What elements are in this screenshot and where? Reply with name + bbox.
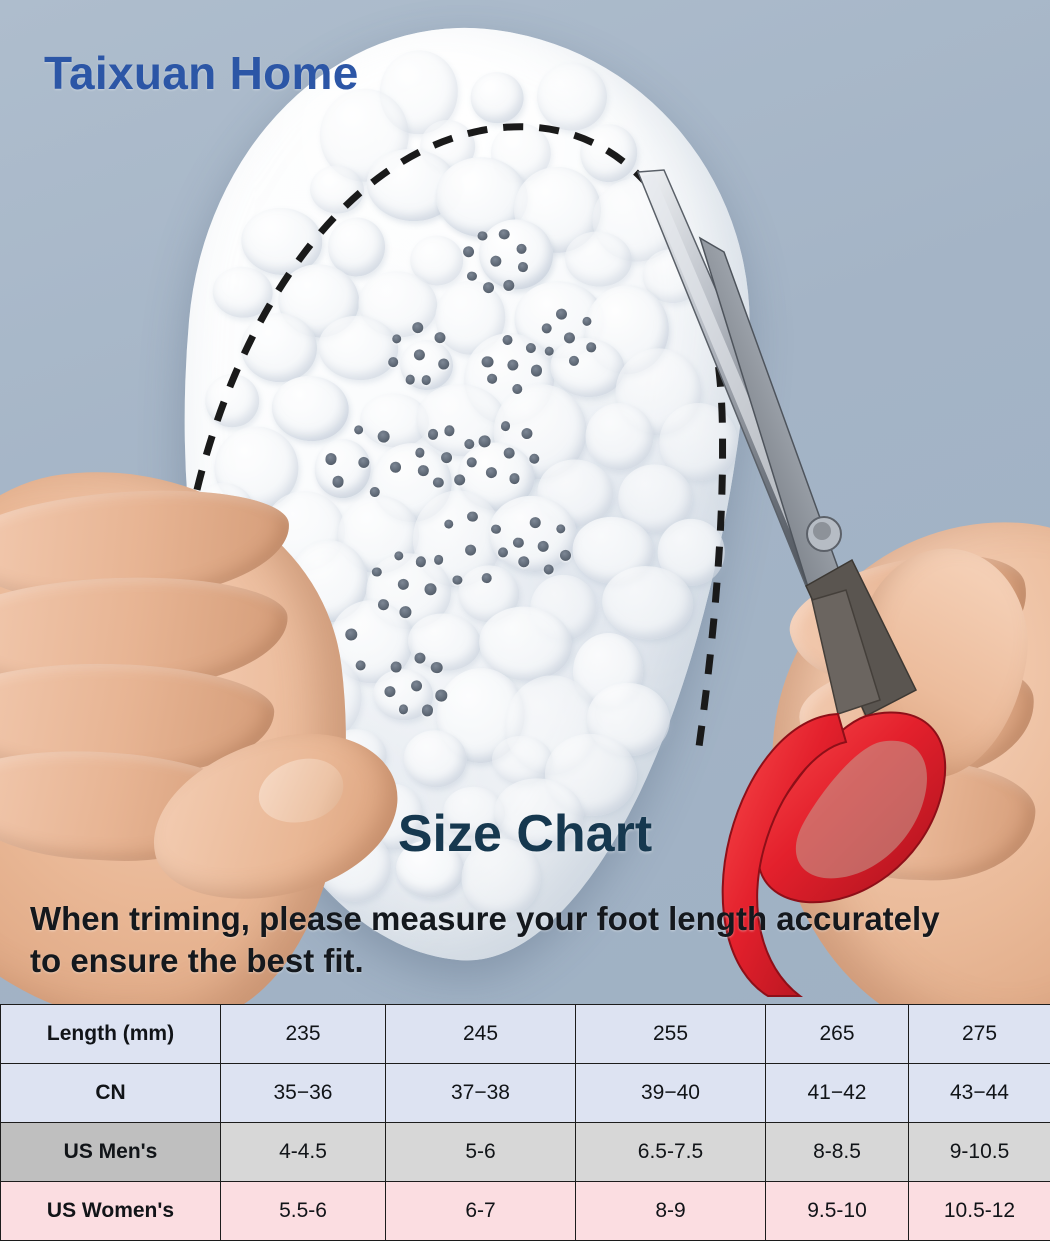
cell-us-mens-5: 9-10.5 xyxy=(909,1123,1050,1182)
row-header-cn: CN xyxy=(1,1064,221,1123)
row-header-us-womens: US Women's xyxy=(1,1182,221,1241)
table-row: US Men's 4-4.5 5-6 6.5-7.5 8-8.5 9-10.5 xyxy=(1,1123,1050,1182)
brand-logo-text: Taixuan Home xyxy=(44,46,359,100)
cell-length-245: 245 xyxy=(386,1005,576,1064)
table-row: CN 35−36 37−38 39−40 41−42 43−44 xyxy=(1,1064,1050,1123)
cell-us-womens-1: 5.5-6 xyxy=(221,1182,386,1241)
product-size-chart-image: Taixuan Home Size Chart When triming, pl… xyxy=(0,0,1050,1241)
cell-length-235: 235 xyxy=(221,1005,386,1064)
cell-us-womens-4: 9.5-10 xyxy=(766,1182,909,1241)
product-photo: Taixuan Home Size Chart When triming, pl… xyxy=(0,0,1050,1005)
instruction-line-1: When triming, please measure your foot l… xyxy=(30,898,1030,940)
cell-us-womens-3: 8-9 xyxy=(576,1182,766,1241)
cell-us-womens-5: 10.5-12 xyxy=(909,1182,1050,1241)
instruction-line-2: to ensure the best fit. xyxy=(30,940,1030,982)
size-chart-table: Length (mm) 235 245 255 265 275 CN 35−36… xyxy=(0,1004,1050,1241)
instruction-text: When triming, please measure your foot l… xyxy=(30,898,1030,982)
cell-cn-1: 35−36 xyxy=(221,1064,386,1123)
cell-us-womens-2: 6-7 xyxy=(386,1182,576,1241)
page-title: Size Chart xyxy=(0,804,1050,864)
row-header-us-mens: US Men's xyxy=(1,1123,221,1182)
cell-us-mens-3: 6.5-7.5 xyxy=(576,1123,766,1182)
cell-us-mens-2: 5-6 xyxy=(386,1123,576,1182)
table-row: Length (mm) 235 245 255 265 275 xyxy=(1,1005,1050,1064)
cell-length-265: 265 xyxy=(766,1005,909,1064)
cell-length-275: 275 xyxy=(909,1005,1050,1064)
row-header-length: Length (mm) xyxy=(1,1005,221,1064)
cell-us-mens-4: 8-8.5 xyxy=(766,1123,909,1182)
cell-length-255: 255 xyxy=(576,1005,766,1064)
cell-cn-3: 39−40 xyxy=(576,1064,766,1123)
cell-cn-2: 37−38 xyxy=(386,1064,576,1123)
cell-cn-4: 41−42 xyxy=(766,1064,909,1123)
table-row: US Women's 5.5-6 6-7 8-9 9.5-10 10.5-12 xyxy=(1,1182,1050,1241)
cell-us-mens-1: 4-4.5 xyxy=(221,1123,386,1182)
cell-cn-5: 43−44 xyxy=(909,1064,1050,1123)
